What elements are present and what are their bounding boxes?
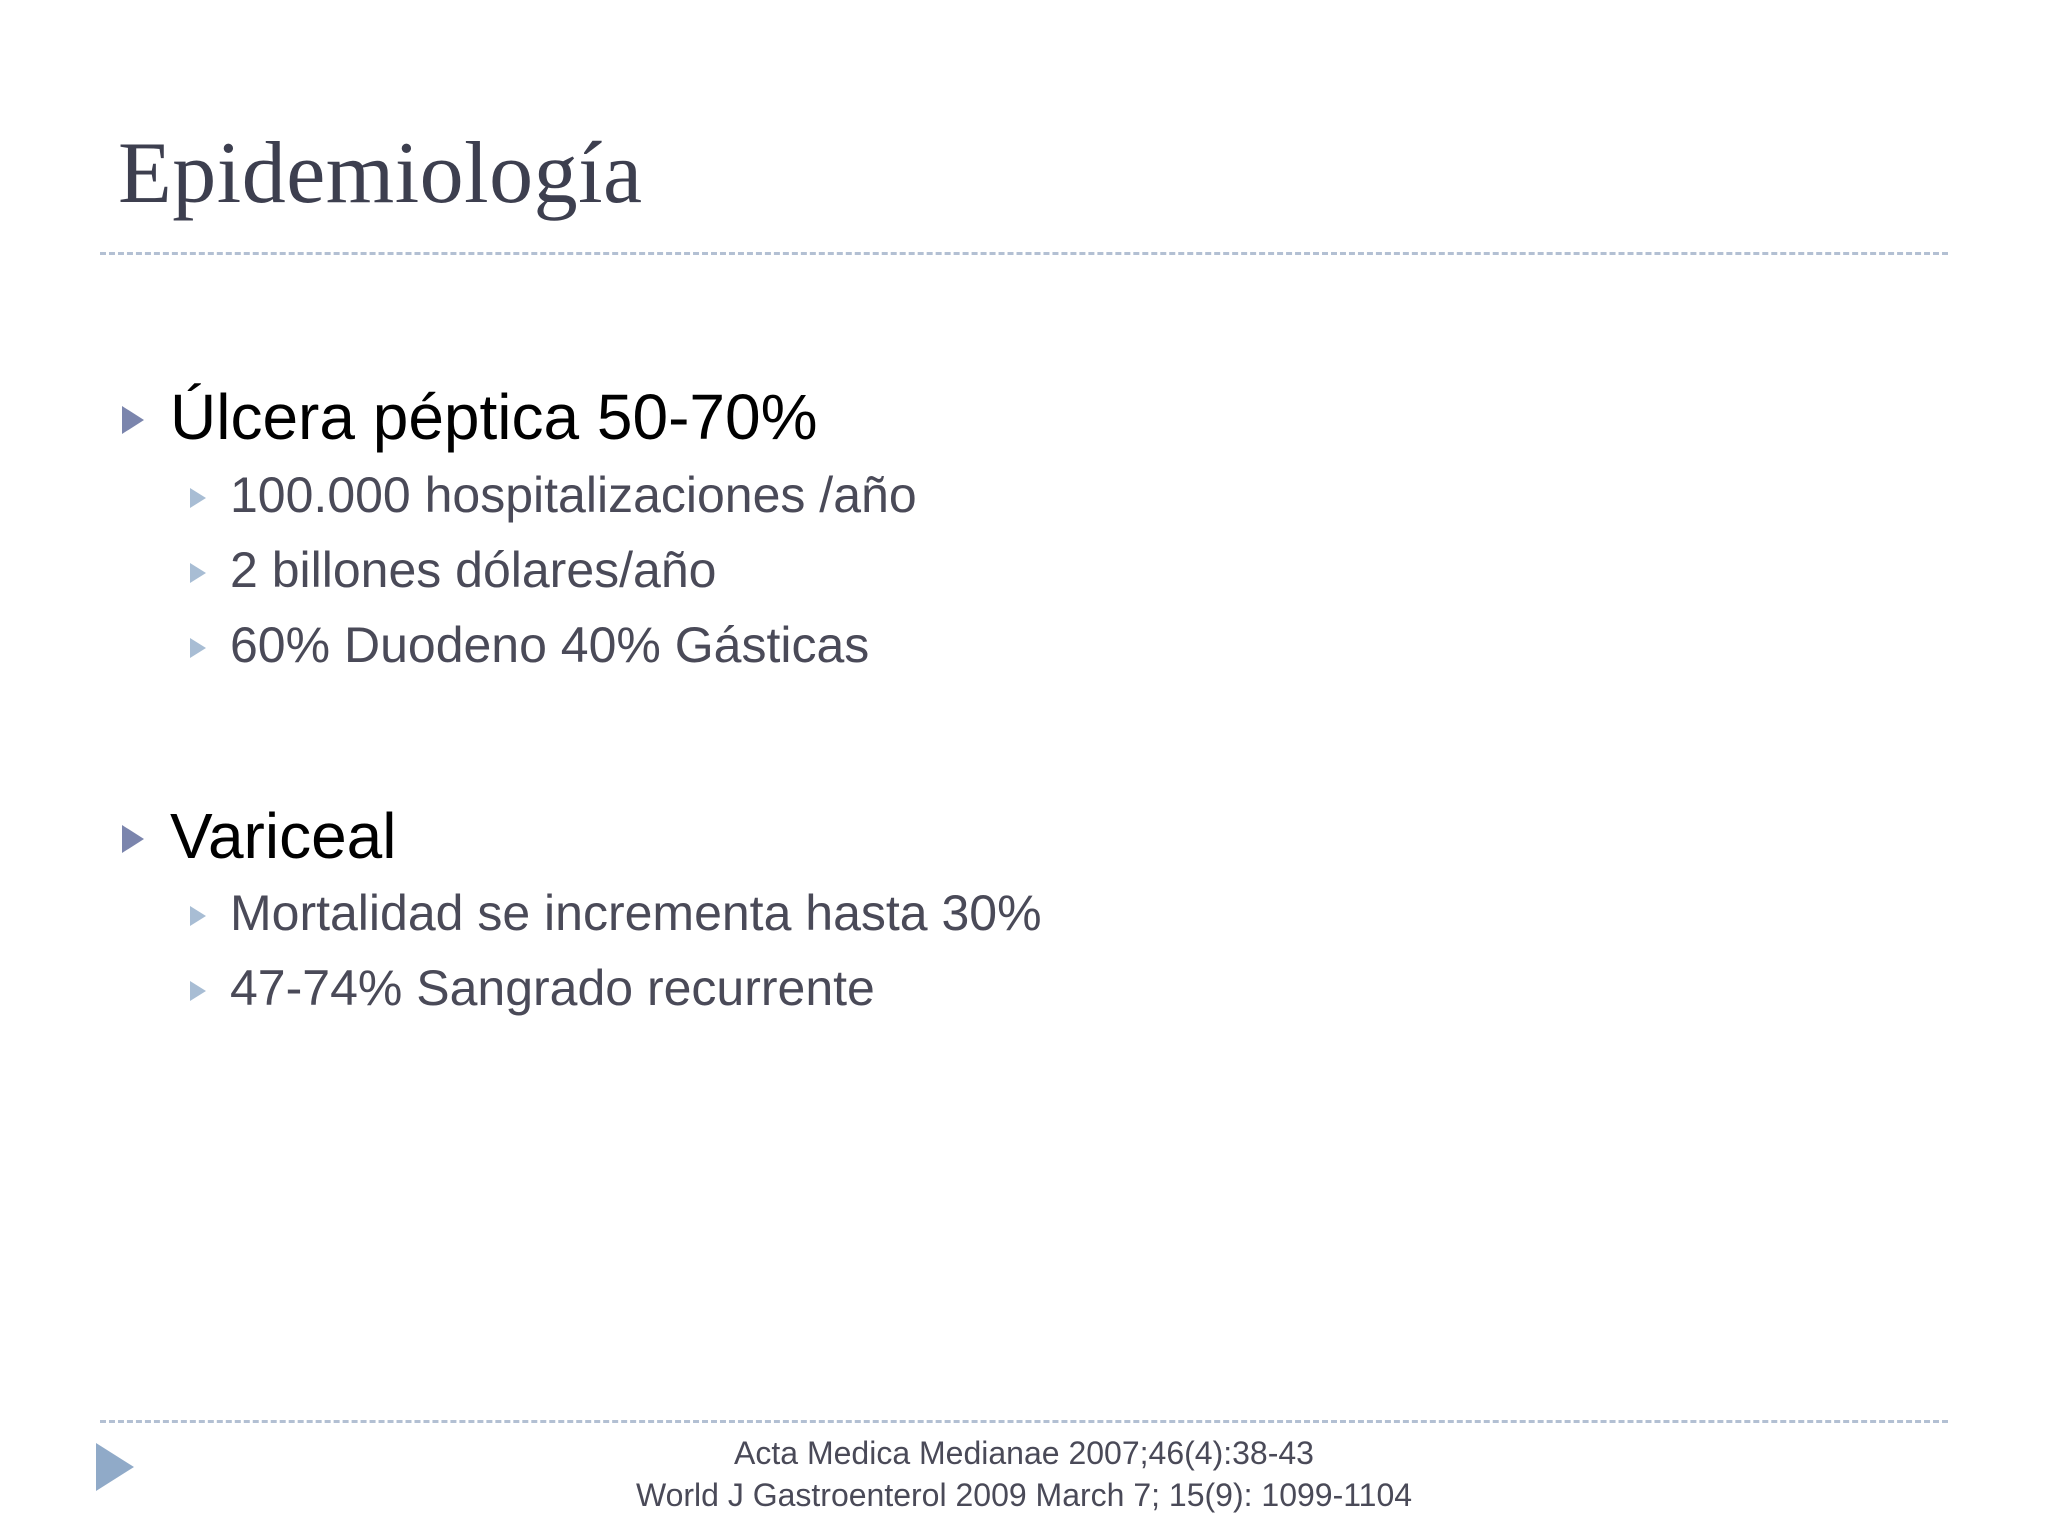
bullet-level2-label: 100.000 hospitalizaciones /año [230, 466, 917, 525]
triangle-sub-bullet-icon [190, 638, 206, 658]
bullet-level2: Mortalidad se incrementa hasta 30% [0, 884, 2048, 943]
footer-divider-rule [100, 1420, 1948, 1423]
bullet-level1: Úlcera péptica 50-70% [0, 380, 2048, 456]
citation-line: World J Gastroenterol 2009 March 7; 15(9… [0, 1474, 2048, 1516]
triangle-sub-bullet-icon [190, 981, 206, 1001]
page-title: Epidemiología [118, 128, 643, 220]
triangle-bullet-icon [122, 825, 144, 853]
group-spacer [0, 691, 2048, 799]
citation-line: Acta Medica Medianae 2007;46(4):38-43 [0, 1432, 2048, 1474]
triangle-bullet-icon [122, 406, 144, 434]
bullet-level2: 2 billones dólares/año [0, 541, 2048, 600]
bullet-level2-label: 2 billones dólares/año [230, 541, 716, 600]
bullet-level2-label: 60% Duodeno 40% Gásticas [230, 616, 869, 675]
bullet-list: Úlcera péptica 50-70% 100.000 hospitaliz… [0, 380, 2048, 1034]
triangle-sub-bullet-icon [190, 563, 206, 583]
title-divider-rule [100, 252, 1948, 255]
footer-citations: Acta Medica Medianae 2007;46(4):38-43 Wo… [0, 1432, 2048, 1516]
bullet-level1-label: Variceal [170, 799, 396, 875]
bullet-level1-label: Úlcera péptica 50-70% [170, 380, 817, 456]
slide-canvas: Epidemiología Úlcera péptica 50-70% 100.… [0, 0, 2048, 1536]
triangle-sub-bullet-icon [190, 906, 206, 926]
triangle-sub-bullet-icon [190, 488, 206, 508]
bullet-level2: 47-74% Sangrado recurrente [0, 959, 2048, 1018]
bullet-level1: Variceal [0, 799, 2048, 875]
bullet-level2: 100.000 hospitalizaciones /año [0, 466, 2048, 525]
bullet-level2-label: 47-74% Sangrado recurrente [230, 959, 875, 1018]
bullet-level2: 60% Duodeno 40% Gásticas [0, 616, 2048, 675]
bullet-level2-label: Mortalidad se incrementa hasta 30% [230, 884, 1042, 943]
